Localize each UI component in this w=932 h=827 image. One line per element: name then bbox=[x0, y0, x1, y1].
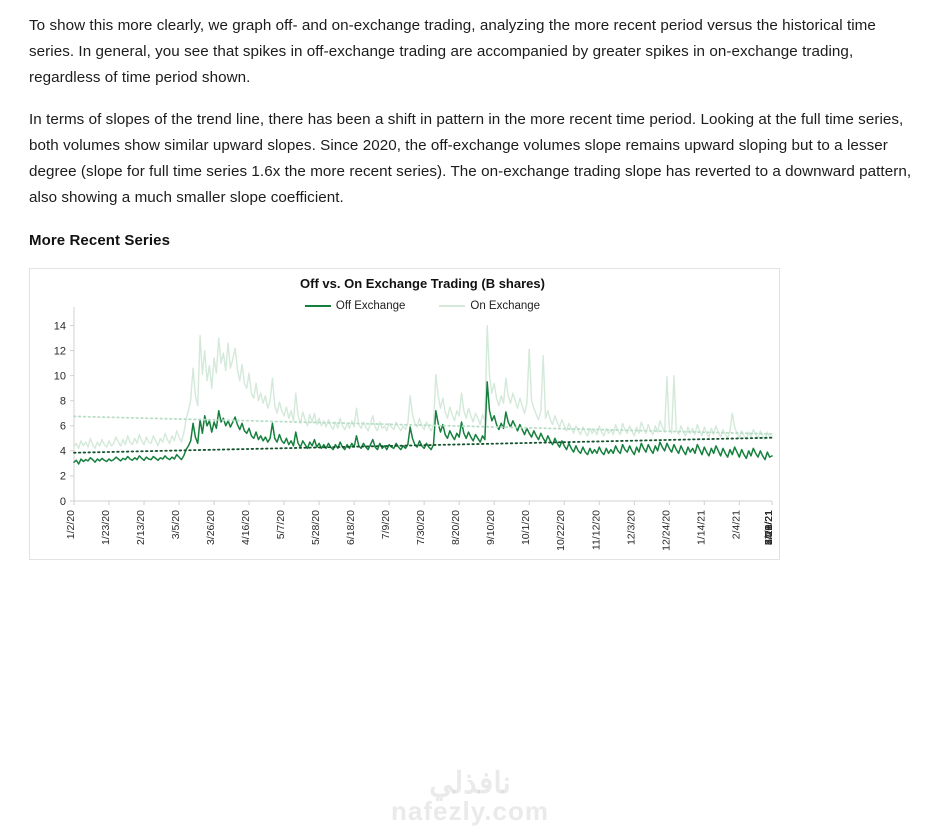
x-axis-tick: 10/1/20 bbox=[520, 510, 532, 545]
series-line bbox=[74, 326, 772, 449]
y-axis-tick: 6 bbox=[60, 421, 66, 433]
chart-container: Off vs. On Exchange Trading (B shares) O… bbox=[29, 268, 780, 560]
x-axis-tick: 7/9/20 bbox=[380, 510, 392, 539]
x-axis-tick: 1/23/20 bbox=[100, 510, 112, 545]
x-axis-tick: 2/4/21 bbox=[730, 510, 742, 539]
y-axis-tick: 0 bbox=[60, 496, 66, 508]
x-axis-tick: 6/18/20 bbox=[345, 510, 357, 545]
x-axis-tick: 10/22/20 bbox=[555, 510, 567, 551]
chart-plot: 024681012141/2/201/23/202/13/203/5/203/2… bbox=[30, 269, 779, 559]
paragraph-2: In terms of slopes of the trend line, th… bbox=[29, 107, 919, 211]
x-axis-tick: 12/24/20 bbox=[660, 510, 672, 551]
document-page: To show this more clearly, we graph off-… bbox=[0, 0, 932, 581]
paragraph-1: To show this more clearly, we graph off-… bbox=[29, 13, 919, 91]
x-axis-tick: 3/26/20 bbox=[205, 510, 217, 545]
x-axis-tick: 8/20/20 bbox=[450, 510, 462, 545]
y-axis-tick: 8 bbox=[60, 396, 66, 408]
x-axis-tick: 11/12/20 bbox=[590, 510, 602, 550]
trend-line bbox=[74, 416, 772, 434]
x-axis-tick: 5/28/20 bbox=[310, 510, 322, 545]
x-axis-tick: 7/30/20 bbox=[415, 510, 427, 545]
y-axis-tick: 14 bbox=[54, 320, 66, 332]
x-axis-tick: 5/7/20 bbox=[275, 510, 287, 539]
watermark: nafezly.com bbox=[391, 796, 549, 827]
section-heading: More Recent Series bbox=[29, 232, 170, 249]
x-axis-tick: 1/14/21 bbox=[695, 510, 707, 545]
body-text: To show this more clearly, we graph off-… bbox=[29, 13, 919, 227]
y-axis-tick: 2 bbox=[60, 471, 66, 483]
x-axis-tick: 7/22/21 bbox=[763, 510, 775, 545]
y-axis-tick: 4 bbox=[60, 446, 66, 458]
x-axis-tick: 4/16/20 bbox=[240, 510, 252, 545]
y-axis-tick: 10 bbox=[54, 370, 66, 382]
watermark-script: نافذلي bbox=[429, 766, 511, 801]
y-axis-tick: 12 bbox=[54, 345, 66, 357]
x-axis-tick: 2/13/20 bbox=[135, 510, 147, 545]
x-axis-tick: 9/10/20 bbox=[485, 510, 497, 545]
x-axis-tick: 1/2/20 bbox=[65, 510, 77, 539]
x-axis-tick: 3/5/20 bbox=[170, 510, 182, 539]
x-axis-tick: 12/3/20 bbox=[625, 510, 637, 545]
